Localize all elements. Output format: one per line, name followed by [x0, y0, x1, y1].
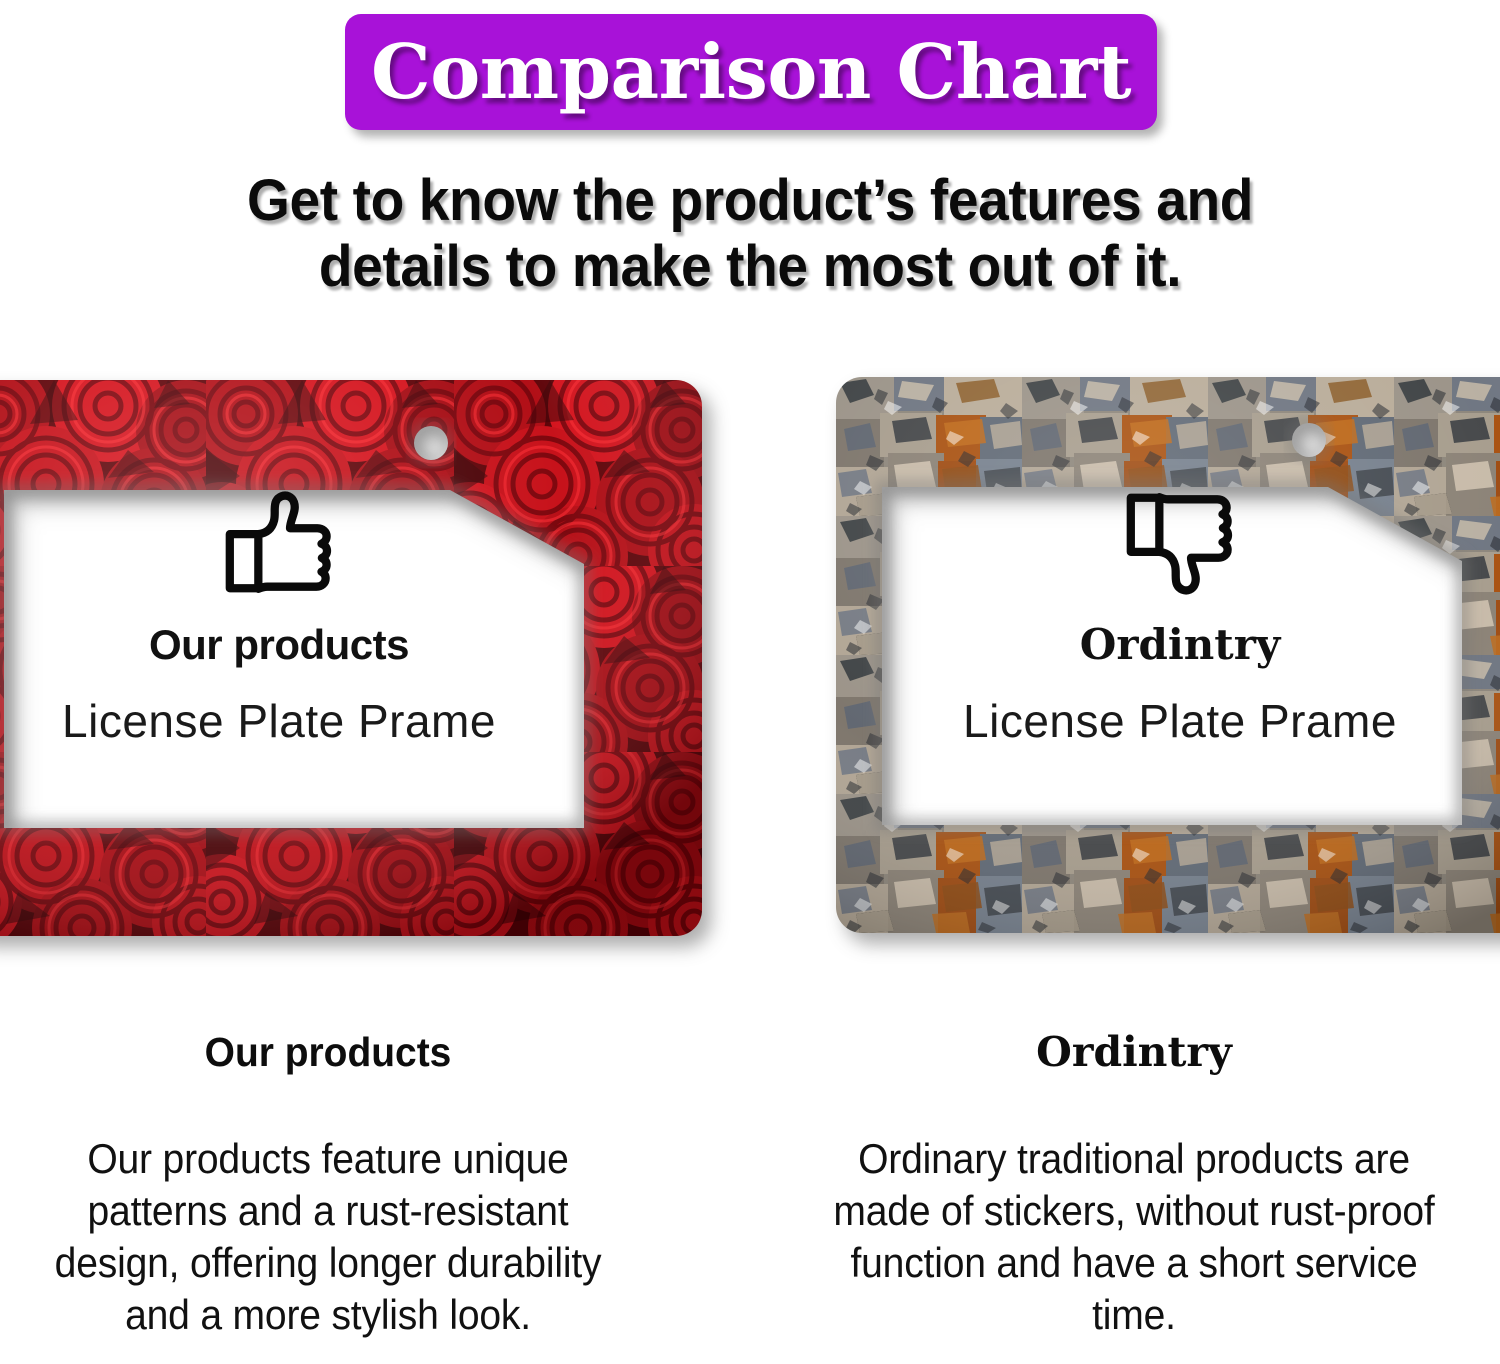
title-banner: Comparison Chart [345, 14, 1157, 130]
thumbs-up-icon [218, 487, 340, 599]
subtitle-line-1: Get to know the product’s features and [38, 168, 1463, 234]
column-heading-ordinary: Ordintry [810, 1030, 1458, 1075]
comparison-chart-page: Comparison Chart Get to know the product… [0, 0, 1500, 1364]
frame-content-ours: Our products License Plate Prame [18, 487, 540, 745]
column-ours: Our products Our products feature unique… [30, 1030, 626, 1341]
frame-product-ordinary: License Plate Prame [900, 697, 1460, 745]
thumbs-down-icon [1119, 487, 1241, 599]
subtitle-line-2: details to make the most out of it. [38, 234, 1463, 300]
frame-brand-ours: Our products [18, 623, 540, 667]
frame-product-ours: License Plate Prame [18, 697, 540, 745]
frame-brand-ordinary: Ordintry [900, 623, 1460, 667]
subtitle: Get to know the product’s features and d… [38, 168, 1463, 300]
column-body-ordinary: Ordinary traditional products are made o… [833, 1133, 1436, 1341]
column-heading-ours: Our products [45, 1030, 611, 1075]
column-ordinary: Ordintry Ordinary traditional products a… [810, 1030, 1458, 1341]
column-body-ours: Our products feature unique patterns and… [51, 1133, 605, 1341]
page-title: Comparison Chart [371, 35, 1131, 110]
frame-content-ordinary: Ordintry License Plate Prame [900, 487, 1460, 745]
